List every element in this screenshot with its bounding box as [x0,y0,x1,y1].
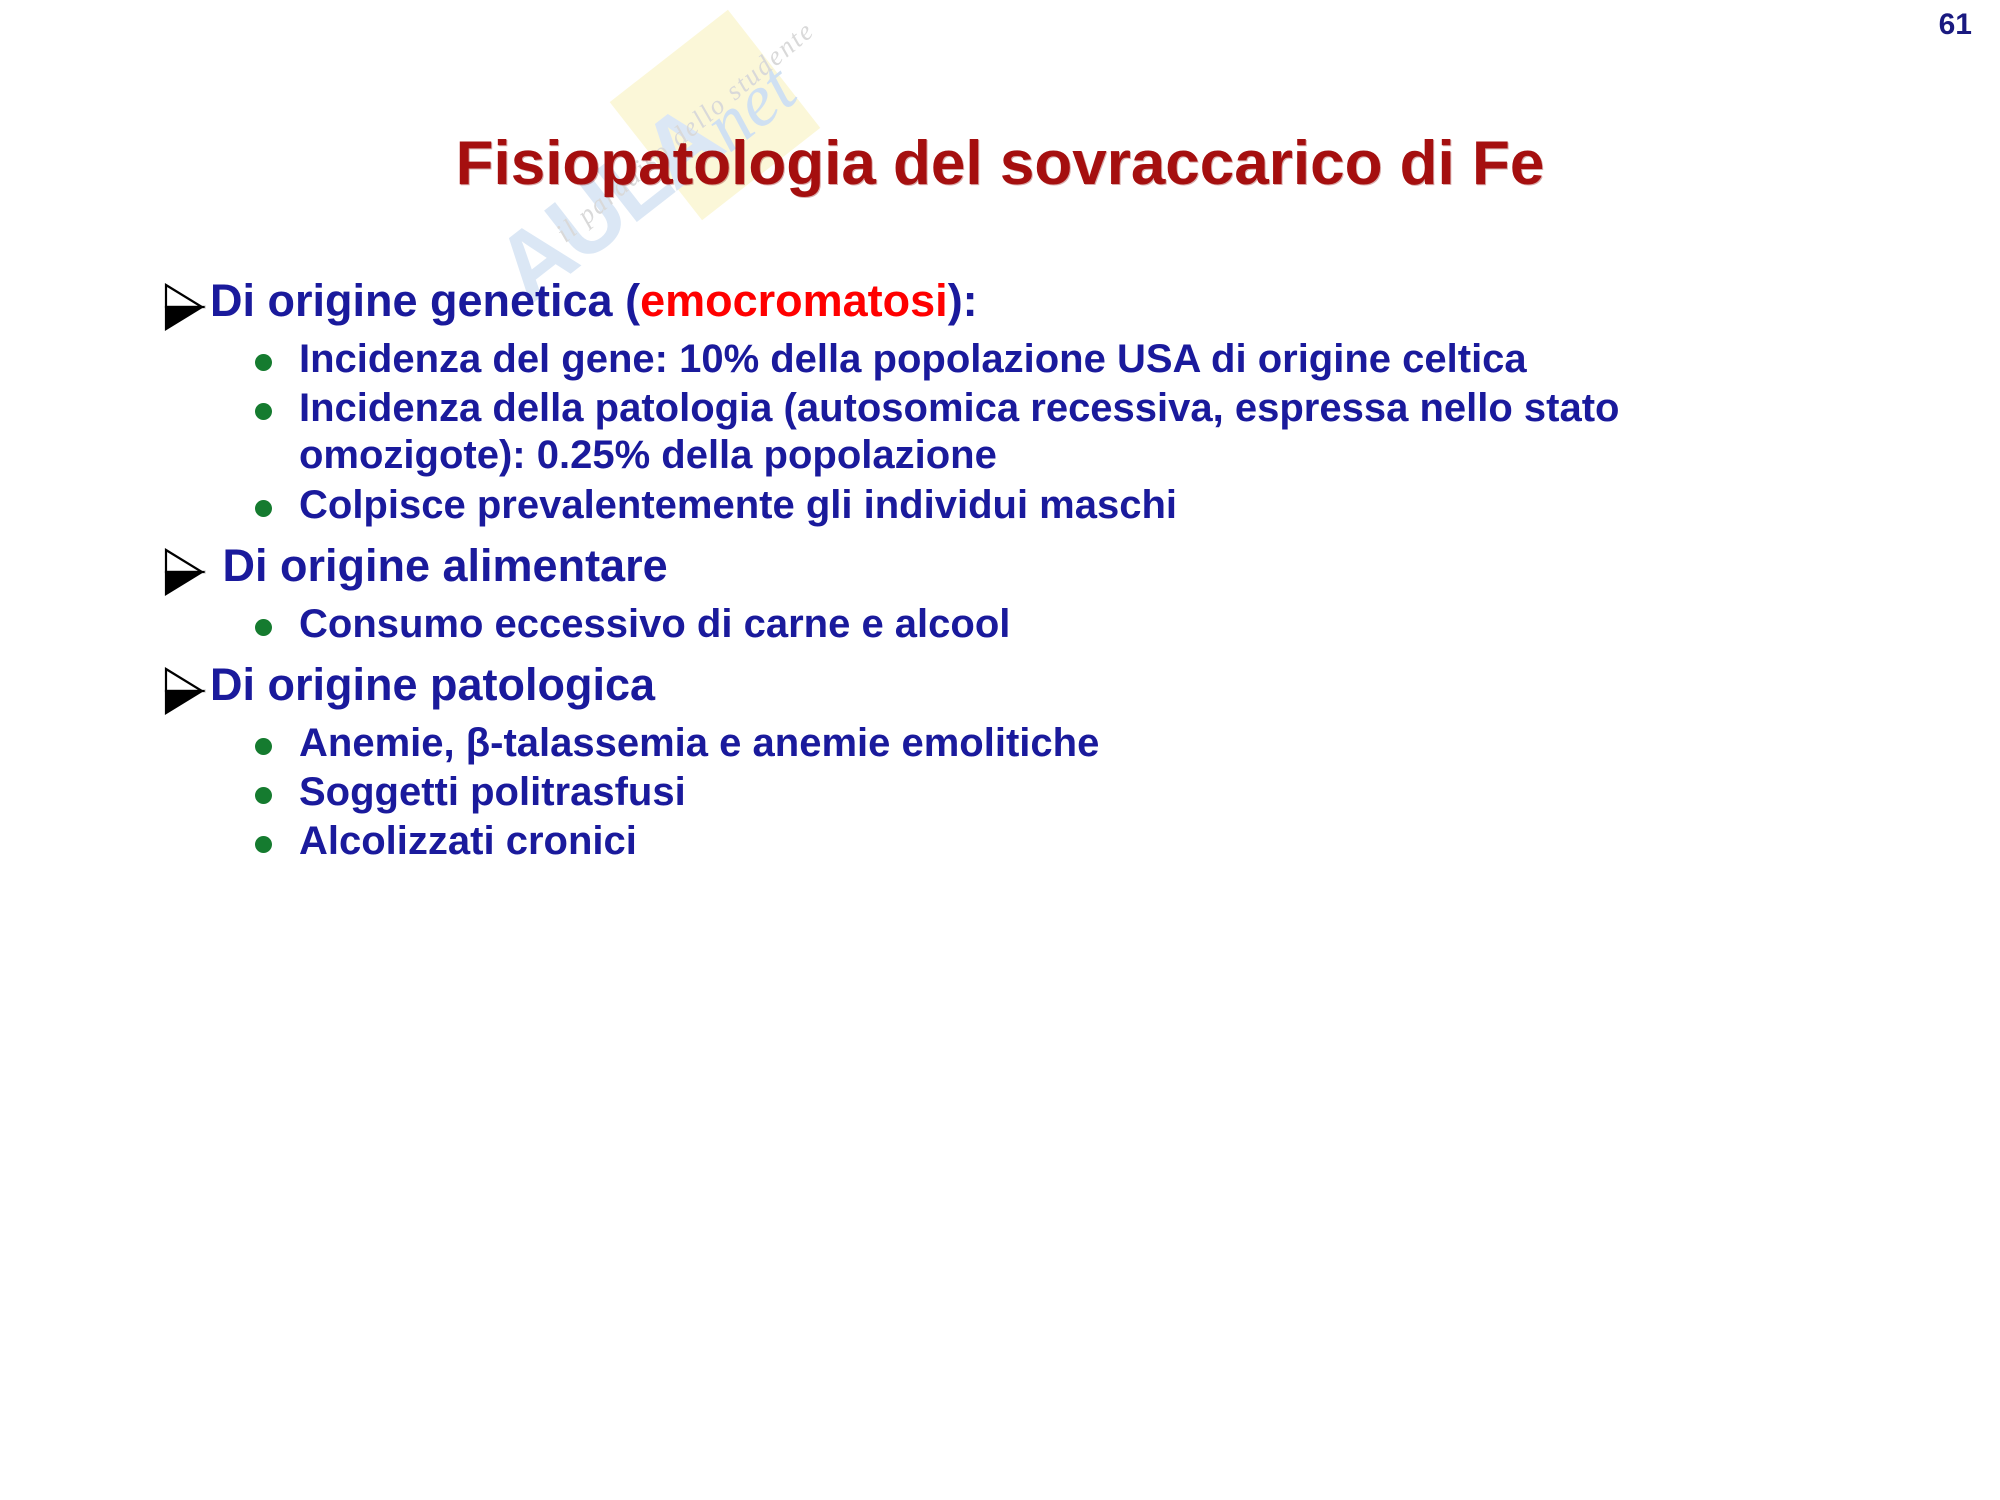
dot-bullet-icon [255,354,272,371]
outline-item-level1: Di origine alimentare [0,541,2000,597]
outline-item-level2: Alcolizzati cronici [0,818,2000,865]
dot-bullet-icon [255,403,272,420]
outline-item-level2: Colpisce prevalentemente gli individui m… [0,482,2000,529]
outline-item-level1-label: Di origine patologica [210,660,655,710]
outline-item-level2: Anemie, β-talassemia e anemie emolitiche [0,720,2000,767]
page-title: Fisiopatologia del sovraccarico di Fe [0,128,2000,199]
outline-item-level1-label: Di origine alimentare [210,541,668,591]
outline-item-level1-label: Di origine genetica (emocromatosi): [210,276,978,326]
outline-item-level2-label: Incidenza del gene: 10% della popolazion… [299,336,1527,383]
outline-item-level2-label: Soggetti politrasfusi [299,769,686,816]
dot-bullet-icon [255,738,272,755]
outline-item-level1: Di origine patologica [0,660,2000,716]
outline-item-level2-label: Incidenza della patologia (autosomica re… [299,385,1829,479]
dot-bullet-icon [255,500,272,517]
dot-bullet-icon [255,787,272,804]
slide-canvas: AULA net il paradiso dello studente 61 F… [0,0,2000,1500]
outline-item-level2: Incidenza del gene: 10% della popolazion… [0,336,2000,383]
outline-item-level1: Di origine genetica (emocromatosi): [0,276,2000,332]
arrow-bullet-icon [160,282,206,332]
dot-bullet-icon [255,619,272,636]
outline-list: Di origine genetica (emocromatosi): Inci… [0,276,2000,868]
outline-item-level2: Soggetti politrasfusi [0,769,2000,816]
outline-item-level2-label: Consumo eccessivo di carne e alcool [299,601,1010,648]
arrow-bullet-icon [160,547,206,597]
arrow-bullet-icon [160,666,206,716]
outline-item-level2: Incidenza della patologia (autosomica re… [0,385,2000,479]
outline-item-level2: Consumo eccessivo di carne e alcool [0,601,2000,648]
page-number: 61 [1939,8,1972,42]
outline-item-level2-label: Anemie, β-talassemia e anemie emolitiche [299,720,1099,767]
dot-bullet-icon [255,836,272,853]
outline-item-level2-label: Alcolizzati cronici [299,818,637,865]
outline-item-level2-label: Colpisce prevalentemente gli individui m… [299,482,1177,529]
